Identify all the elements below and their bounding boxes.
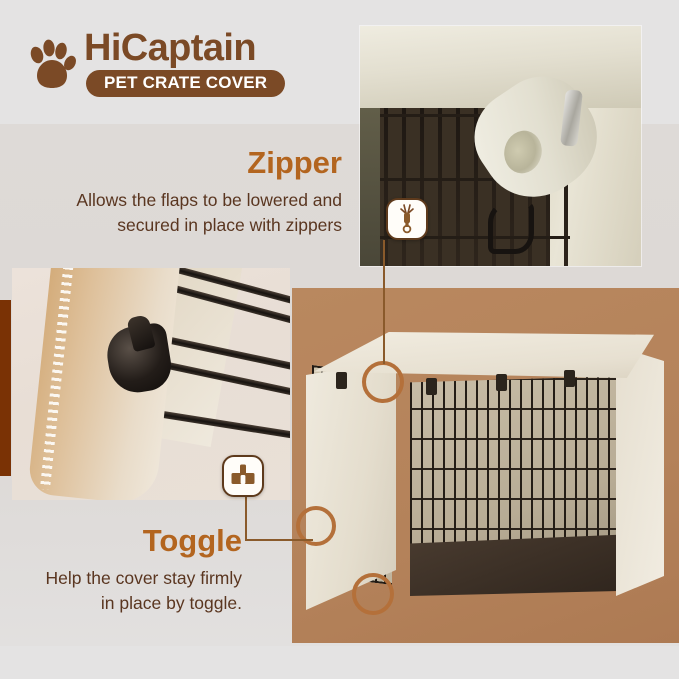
dog-crate-with-cover bbox=[298, 332, 670, 624]
paw-print-icon bbox=[28, 38, 76, 90]
left-accent-bar bbox=[0, 300, 11, 476]
cover-strap bbox=[564, 370, 575, 387]
background-band-bottom bbox=[0, 646, 679, 679]
toggle-description-line-1: Help the cover stay firmly bbox=[10, 566, 242, 591]
toggle-description-line-2: in place by toggle. bbox=[10, 591, 242, 616]
lead-line-zipper bbox=[383, 240, 385, 364]
toggle-feature-text: Toggle Help the cover stay firmly in pla… bbox=[10, 523, 242, 616]
brand-name: HiCaptain bbox=[84, 26, 256, 70]
lead-line-toggle-vertical bbox=[245, 496, 247, 540]
annotation-ring-zipper bbox=[362, 361, 404, 403]
zipper-description-line-1: Allows the flaps to be lowered and bbox=[30, 188, 342, 213]
toggle-feature-badge[interactable] bbox=[222, 455, 264, 497]
zipper-heading: Zipper bbox=[30, 145, 342, 181]
cover-strap bbox=[336, 372, 347, 389]
lead-line-toggle-horizontal bbox=[245, 539, 313, 541]
zipper-pull-icon bbox=[396, 204, 418, 234]
brand-tagline-badge: PET CRATE COVER bbox=[86, 70, 285, 97]
zipper-feature-badge[interactable] bbox=[386, 198, 428, 240]
cover-strap bbox=[426, 378, 437, 395]
annotation-ring-toggle-bottom bbox=[352, 573, 394, 615]
brand-logo: HiCaptain PET CRATE COVER bbox=[28, 26, 288, 98]
cage-latch-detail bbox=[488, 202, 534, 254]
zipper-feature-text: Zipper Allows the flaps to be lowered an… bbox=[30, 145, 342, 238]
cover-strap bbox=[496, 374, 507, 391]
toggle-heading: Toggle bbox=[10, 523, 242, 559]
toggle-fastener-icon bbox=[230, 464, 256, 488]
covered-dog-crate-photo bbox=[292, 288, 679, 643]
cover-right-flap bbox=[616, 346, 664, 596]
zipper-description-line-2: secured in place with zippers bbox=[30, 213, 342, 238]
infographic-canvas: HiCaptain PET CRATE COVER bbox=[0, 0, 679, 679]
